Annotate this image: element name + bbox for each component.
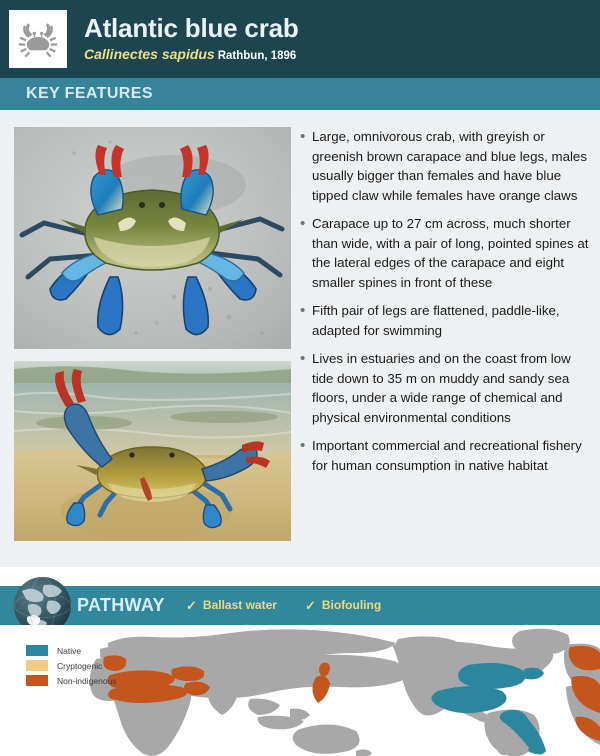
key-features-label: KEY FEATURES: [26, 85, 153, 103]
pathway-label: PATHWAY: [77, 595, 165, 616]
key-features-content: • Large, omnivorous crab, with greyish o…: [0, 110, 600, 567]
crab-icon: [15, 16, 61, 62]
pathway-item-ballast-water: ✓ Ballast water: [186, 598, 277, 612]
key-features-bar: KEY FEATURES: [0, 78, 600, 110]
legend-label: Cryptogenic: [57, 661, 102, 671]
taxon-authority: Rathbun, 1896: [218, 50, 297, 62]
crab-dorsal-on-concrete-photo: [14, 127, 291, 349]
check-icon: ✓: [305, 599, 316, 612]
pathway-item-label: Ballast water: [203, 598, 277, 612]
legend-swatch: [26, 645, 48, 656]
pathway-item-label: Biofouling: [322, 598, 381, 612]
logo-box: [9, 10, 67, 68]
bullet-marker: •: [300, 349, 312, 427]
scientific-name: Callinectes sapidus: [84, 46, 215, 62]
pathway-spacer: [0, 567, 600, 586]
list-item-text: Important commercial and recreational fi…: [312, 436, 590, 475]
header: Atlantic blue crab Callinectes sapidusRa…: [0, 0, 600, 78]
legend-item-native: Native: [26, 645, 117, 656]
pathway-items: ✓ Ballast water ✓ Biofouling: [186, 598, 381, 612]
legend-swatch: [26, 660, 48, 671]
map-legend: Native Cryptogenic Non-indigenous: [26, 645, 117, 690]
list-item-text: Large, omnivorous crab, with greyish or …: [312, 127, 590, 205]
list-item-text: Lives in estuaries and on the coast from…: [312, 349, 590, 427]
species-subtitle: Callinectes sapidusRathbun, 1896: [84, 47, 299, 63]
distribution-map: Native Cryptogenic Non-indigenous: [0, 625, 600, 756]
page-title: Atlantic blue crab: [84, 15, 299, 42]
bullet-marker: •: [300, 127, 312, 205]
bullet-marker: •: [300, 301, 312, 340]
header-text: Atlantic blue crab Callinectes sapidusRa…: [84, 15, 299, 63]
legend-item-cryptogenic: Cryptogenic: [26, 660, 117, 671]
pathway-item-biofouling: ✓ Biofouling: [305, 598, 381, 612]
bullet-marker: •: [300, 214, 312, 292]
list-item: • Lives in estuaries and on the coast fr…: [300, 349, 590, 427]
list-item-text: Fifth pair of legs are flattened, paddle…: [312, 301, 590, 340]
list-item: • Important commercial and recreational …: [300, 436, 590, 475]
legend-swatch: [26, 675, 48, 686]
list-item: • Carapace up to 27 cm across, much shor…: [300, 214, 590, 292]
crab-on-sandy-beach-photo: [14, 361, 291, 541]
list-item: • Large, omnivorous crab, with greyish o…: [300, 127, 590, 205]
list-item: • Fifth pair of legs are flattened, padd…: [300, 301, 590, 340]
bullet-marker: •: [300, 436, 312, 475]
photo-column: [14, 127, 291, 541]
key-features-bullet-list: • Large, omnivorous crab, with greyish o…: [300, 127, 590, 484]
legend-label: Non-indigenous: [57, 676, 117, 686]
legend-label: Native: [57, 646, 81, 656]
legend-item-non-indigenous: Non-indigenous: [26, 675, 117, 686]
check-icon: ✓: [186, 599, 197, 612]
list-item-text: Carapace up to 27 cm across, much shorte…: [312, 214, 590, 292]
